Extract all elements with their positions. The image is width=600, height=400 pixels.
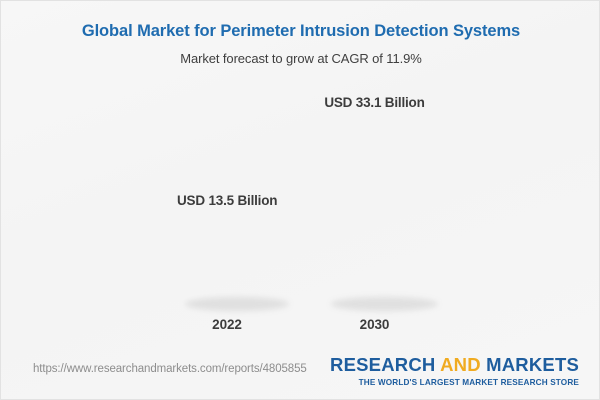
bar-shadow-2022 [185, 297, 289, 311]
bar-value-label-2022: USD 13.5 Billion [177, 193, 277, 208]
infographic-card: Global Market for Perimeter Intrusion De… [0, 0, 600, 400]
bar-value-label-2030: USD 33.1 Billion [323, 95, 426, 110]
logo-word-research: RESEARCH [330, 354, 435, 375]
logo-word-and: AND [440, 354, 481, 375]
brand-logo[interactable]: RESEARCH AND MARKETS THE WORLD'S LARGEST… [330, 356, 579, 387]
bar-shadow-2030 [331, 297, 438, 311]
bar-group-2022[interactable]: USD 13.5 Billion 2022 [177, 1, 277, 349]
report-url-link[interactable]: https://www.researchandmarkets.com/repor… [33, 363, 307, 375]
footer: https://www.researchandmarkets.com/repor… [1, 347, 600, 399]
chart-plot-area: USD 13.5 Billion 2022 USD 33.1 Billion [1, 1, 600, 349]
x-axis-label-2030: 2030 [323, 317, 426, 332]
logo-word-markets: MARKETS [486, 354, 579, 375]
bar-group-2030[interactable]: USD 33.1 Billion 2030 [323, 1, 426, 349]
logo-wordmark: RESEARCH AND MARKETS [330, 356, 579, 375]
x-axis-label-2022: 2022 [177, 317, 277, 332]
logo-tagline: THE WORLD'S LARGEST MARKET RESEARCH STOR… [330, 378, 579, 387]
